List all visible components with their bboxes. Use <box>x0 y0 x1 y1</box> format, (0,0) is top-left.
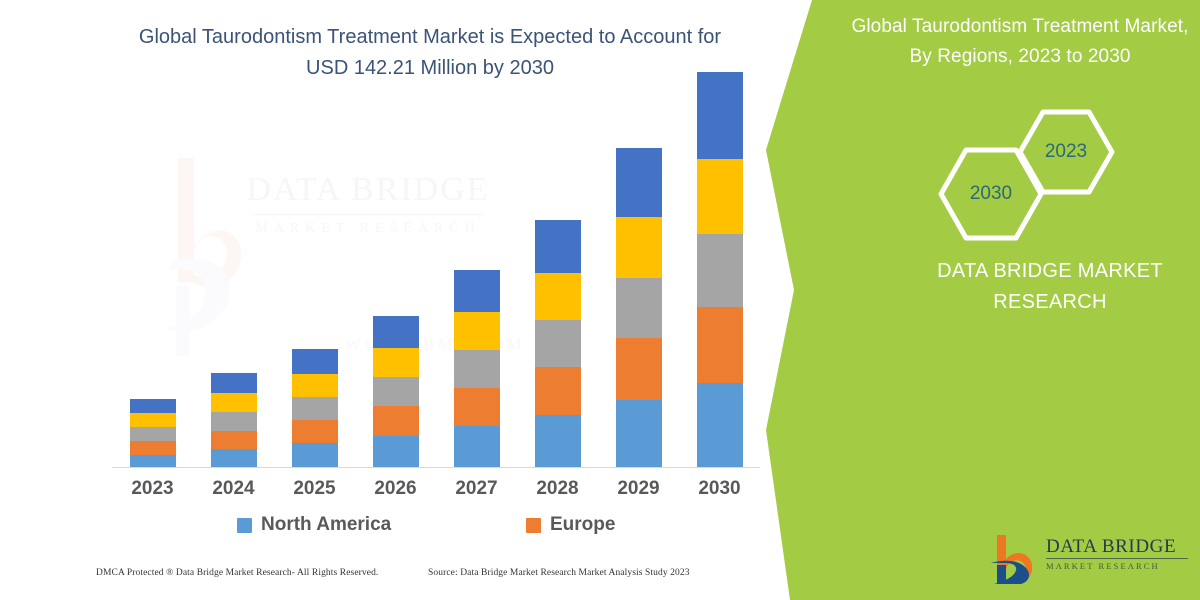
bar-segment <box>535 320 581 367</box>
bar-segment <box>535 415 581 468</box>
legend-item-north-america[interactable]: North America <box>237 514 391 536</box>
data-bridge-wordmark: DATA BRIDGE MARKET RESEARCH <box>1046 536 1188 572</box>
legend-label: North America <box>261 514 391 536</box>
bar-segment <box>130 441 176 455</box>
bar-segment <box>697 383 743 468</box>
logo-line1: DATA BRIDGE <box>1046 536 1188 557</box>
legend-item-europe[interactable]: Europe <box>526 514 615 536</box>
bar-2027 <box>454 270 500 468</box>
bar-segment <box>292 397 338 420</box>
data-bridge-b-mark-icon <box>988 532 1040 584</box>
bar-segment <box>211 373 257 393</box>
x-axis-label-2028: 2028 <box>517 478 598 500</box>
bar-segment <box>454 426 500 468</box>
green-panel-title: Global Taurodontism Treatment Market, By… <box>848 12 1192 72</box>
bar-segment <box>535 220 581 273</box>
bar-segment <box>130 399 176 413</box>
bar-segment <box>292 349 338 374</box>
legend-swatch-icon <box>237 518 252 533</box>
bar-segment <box>130 427 176 441</box>
bar-segment <box>292 374 338 397</box>
infographic-canvas: Global Taurodontism Treatment Market is … <box>0 0 1200 600</box>
x-axis-label-2030: 2030 <box>679 478 760 500</box>
green-panel-brand: DATA BRIDGE MARKET RESEARCH <box>900 256 1200 318</box>
hexagon-group: 2023 2030 <box>928 108 1128 228</box>
bar-segment <box>211 431 257 449</box>
bar-segment <box>454 388 500 426</box>
bar-2026 <box>373 316 419 468</box>
x-axis-label-2024: 2024 <box>193 478 274 500</box>
bar-segment <box>373 316 419 348</box>
footer-copyright: DMCA Protected ® Data Bridge Market Rese… <box>96 568 378 578</box>
bar-2025 <box>292 349 338 468</box>
bar-segment <box>130 413 176 427</box>
bar-segment <box>454 312 500 350</box>
bar-segment <box>616 217 662 278</box>
bar-segment <box>616 148 662 217</box>
stacked-bar-chart <box>112 140 760 468</box>
logo-line2: MARKET RESEARCH <box>1046 561 1188 572</box>
bar-segment <box>373 436 419 468</box>
bar-segment <box>454 270 500 312</box>
bar-segment <box>616 338 662 400</box>
hexagon-2030: 2030 <box>936 146 1046 242</box>
legend-swatch-icon <box>526 518 541 533</box>
logo-rule <box>1046 558 1188 559</box>
bar-segment <box>292 420 338 443</box>
legend-label: Europe <box>550 514 615 536</box>
bar-2024 <box>211 373 257 468</box>
bar-2030 <box>697 72 743 468</box>
bar-segment <box>373 377 419 406</box>
data-bridge-logo[interactable]: DATA BRIDGE MARKET RESEARCH <box>988 530 1188 586</box>
bar-2023 <box>130 399 176 468</box>
bar-segment <box>697 234 743 307</box>
bar-segment <box>292 443 338 468</box>
bar-segment <box>535 367 581 415</box>
bar-segment <box>211 412 257 431</box>
bar-segment <box>373 406 419 436</box>
bar-segment <box>616 278 662 338</box>
bar-segment <box>616 400 662 468</box>
bar-2028 <box>535 220 581 468</box>
bar-segment <box>697 307 743 383</box>
chart-baseline <box>112 467 760 468</box>
page-title: Global Taurodontism Treatment Market is … <box>120 22 740 84</box>
bar-segment <box>454 350 500 388</box>
chart-legend: North America Europe <box>112 512 760 542</box>
hexagon-label: 2030 <box>936 146 1046 242</box>
bar-segment <box>697 72 743 159</box>
chart-x-axis: 20232024202520262027202820292030 <box>112 478 760 508</box>
x-axis-label-2026: 2026 <box>355 478 436 500</box>
bar-segment <box>373 348 419 377</box>
bar-segment <box>535 273 581 320</box>
x-axis-label-2025: 2025 <box>274 478 355 500</box>
bar-2029 <box>616 148 662 468</box>
footer-source: Source: Data Bridge Market Research Mark… <box>428 568 690 578</box>
bar-segment <box>697 159 743 234</box>
x-axis-label-2027: 2027 <box>436 478 517 500</box>
x-axis-label-2029: 2029 <box>598 478 679 500</box>
x-axis-label-2023: 2023 <box>112 478 193 500</box>
bar-segment <box>211 449 257 468</box>
bar-segment <box>211 393 257 412</box>
